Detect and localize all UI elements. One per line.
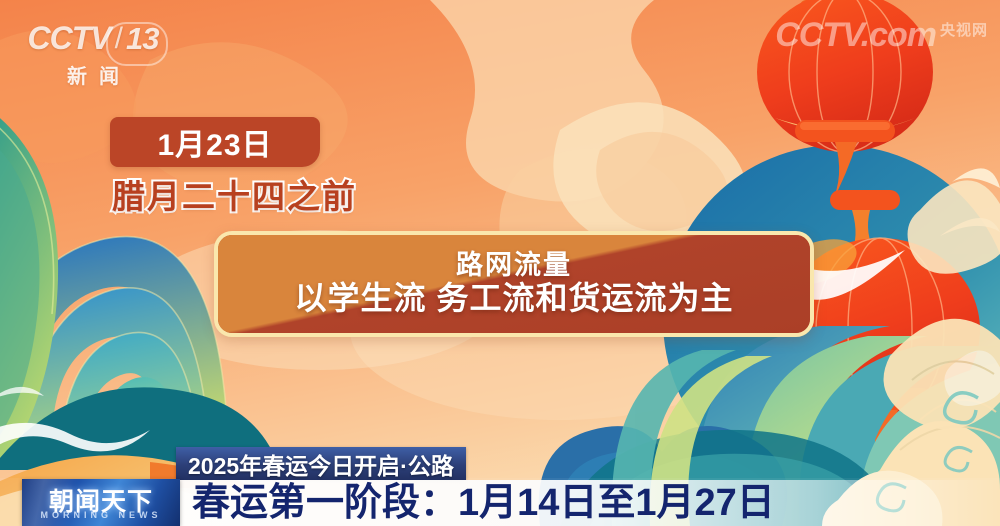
watermark-domain: CCTV.com: [775, 18, 936, 52]
channel-logo: CCTV / 13 新闻: [18, 20, 168, 92]
lower-third-kicker-label: 2025年春运今日开启·公路: [188, 447, 454, 481]
channel-logo-row: CCTV / 13: [18, 20, 168, 57]
lower-third-kicker: 2025年春运今日开启·公路: [176, 447, 466, 480]
channel-logo-subtitle: 新闻: [18, 60, 168, 89]
cctv-com-watermark: CCTV.com 央视网: [775, 18, 988, 52]
info-card: 路网流量 以学生流 务工流和货运流为主: [214, 231, 814, 337]
broadcast-screen: CCTV / 13 新闻 CCTV.com 央视网 1月23日 腊月二十四之前 …: [0, 0, 1000, 526]
cctv-slash: /: [115, 22, 122, 56]
lunar-date-label: 腊月二十四之前: [112, 170, 357, 218]
program-logo-english: MORNING NEWS: [22, 510, 180, 520]
program-logo: 朝闻天下 MORNING NEWS: [22, 479, 180, 526]
cctv-channel-number: 13: [126, 21, 158, 57]
cctv-wordmark: CCTV: [28, 20, 111, 57]
date-badge: 1月23日: [110, 117, 320, 167]
lower-third-headline: 春运第一阶段：1月14日至1月27日: [192, 481, 775, 526]
info-card-line-1: 路网流量: [456, 251, 572, 280]
watermark-chinese: 央视网: [940, 23, 988, 52]
date-badge-label: 1月23日: [157, 120, 272, 164]
info-card-line-2: 以学生流 务工流和货运流为主: [295, 281, 734, 317]
info-card-text: 路网流量 以学生流 务工流和货运流为主: [218, 235, 810, 333]
